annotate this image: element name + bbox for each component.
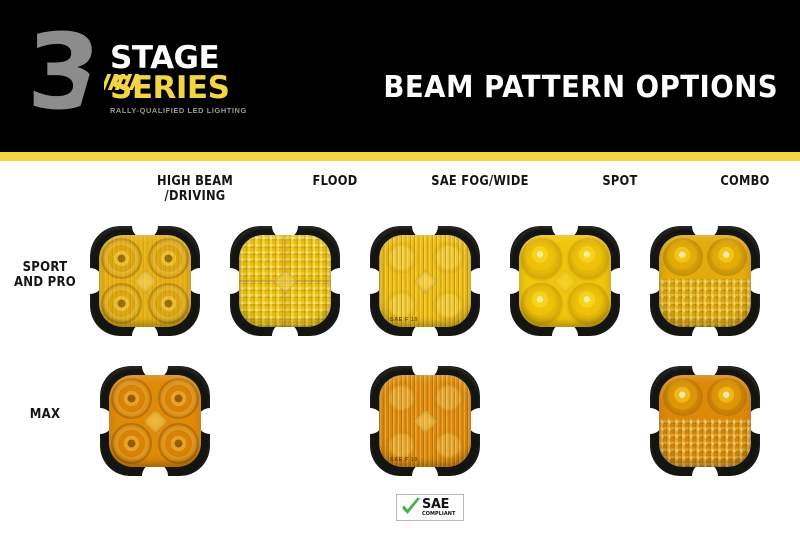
reflector-pod xyxy=(111,423,152,464)
logo-speed-stripes-icon xyxy=(104,74,144,90)
reflector-pod xyxy=(101,283,142,324)
sae-badge-text: SAE COMPLIANT xyxy=(422,498,457,518)
reflector-pod xyxy=(148,238,189,279)
spot-pod xyxy=(707,378,747,417)
lens-face xyxy=(659,375,751,467)
spot-pod xyxy=(707,238,747,277)
page-title: BEAM PATTERN OPTIONS xyxy=(383,70,778,105)
header-bar: 3 STAGE SERIES RALLY-QUALIFIED LED LIGHT… xyxy=(0,0,800,152)
row-label-line1: SPORT xyxy=(5,261,86,276)
lens-sport-high-beam-driving xyxy=(90,226,200,336)
lens-sport-flood xyxy=(230,226,340,336)
column-header-row: HIGH BEAM /DRIVING FLOOD SAE FOG/WIDE SP… xyxy=(90,175,800,219)
beam-pattern-options-chart: 3 STAGE SERIES RALLY-QUALIFIED LED LIGHT… xyxy=(0,0,800,533)
lens-assembly xyxy=(100,366,210,476)
combo-spot-half xyxy=(659,375,751,419)
sae-compliant-badge: SAE COMPLIANT xyxy=(396,494,464,521)
spot-pod xyxy=(568,238,609,279)
column-header-line1: SAE FOG/WIDE xyxy=(414,175,546,190)
lens-assembly: SAE F 19 xyxy=(370,366,480,476)
spot-pod xyxy=(663,378,703,417)
lens-sport-sae-fog-wide: SAE F 19 xyxy=(370,226,480,336)
lens-max-combo xyxy=(650,366,760,476)
column-header-line1: SPOT xyxy=(563,175,677,190)
column-header-sae-fog-wide: SAE FOG/WIDE xyxy=(414,175,546,190)
logo-word-stage: STAGE xyxy=(110,44,260,73)
lens-sport-spot xyxy=(510,226,620,336)
reflector-pod xyxy=(101,238,142,279)
row-label-line2: AND PRO xyxy=(5,276,86,291)
combo-spot-half xyxy=(659,235,751,279)
spot-pod xyxy=(521,238,562,279)
lens-assembly xyxy=(650,366,760,476)
combo-flood-half xyxy=(659,279,751,327)
lens-max-sae-fog-wide: SAE F 19 xyxy=(370,366,480,476)
column-header-line1: COMBO xyxy=(688,175,800,190)
lens-assembly xyxy=(230,226,340,336)
lens-face: SAE F 19 xyxy=(379,375,471,467)
lens-sae-marking: SAE F 19 xyxy=(390,457,418,463)
header-accent-stripe xyxy=(0,152,800,161)
lens-face xyxy=(239,235,331,327)
row-label-line1: MAX xyxy=(5,408,86,423)
column-header-line1: HIGH BEAM xyxy=(138,175,252,190)
lens-assembly xyxy=(510,226,620,336)
check-icon xyxy=(400,497,422,518)
lens-texture-waffle-dots xyxy=(659,279,751,327)
reflector-pod xyxy=(111,378,152,419)
sae-badge-subtitle: COMPLIANT xyxy=(422,512,455,517)
lens-assembly xyxy=(90,226,200,336)
column-header-high-beam-driving: HIGH BEAM /DRIVING xyxy=(138,175,252,204)
column-header-flood: FLOOD xyxy=(278,175,392,190)
row-label-sport-and-pro: SPORT AND PRO xyxy=(5,261,86,291)
combo-flood-half xyxy=(659,419,751,467)
reflector-pod xyxy=(158,423,199,464)
spot-pod xyxy=(663,238,703,277)
lens-assembly: SAE F 19 xyxy=(370,226,480,336)
lens-texture-waffle-dots xyxy=(659,419,751,467)
lens-face xyxy=(109,375,201,467)
lens-face xyxy=(99,235,191,327)
lens-assembly xyxy=(650,226,760,336)
lens-sae-marking: SAE F 19 xyxy=(390,317,418,323)
column-header-spot: SPOT xyxy=(563,175,677,190)
row-label-max: MAX xyxy=(5,408,86,423)
logo-wordmark: STAGE SERIES RALLY-QUALIFIED LED LIGHTIN… xyxy=(110,44,260,115)
column-header-line1: FLOOD xyxy=(278,175,392,190)
column-header-line2: /DRIVING xyxy=(138,190,252,205)
column-header-combo: COMBO xyxy=(688,175,800,190)
beam-pattern-grid: HIGH BEAM /DRIVING FLOOD SAE FOG/WIDE SP… xyxy=(0,161,800,533)
lens-face: SAE F 19 xyxy=(379,235,471,327)
sae-badge-title: SAE xyxy=(422,498,449,512)
lens-sport-combo xyxy=(650,226,760,336)
stage-series-logo: 3 STAGE SERIES RALLY-QUALIFIED LED LIGHT… xyxy=(28,26,258,126)
lens-face xyxy=(519,235,611,327)
spot-pod xyxy=(521,283,562,324)
reflector-pod xyxy=(158,378,199,419)
lens-face xyxy=(659,235,751,327)
spot-pod xyxy=(568,283,609,324)
lens-max-high-beam-driving xyxy=(100,366,210,476)
logo-tagline: RALLY-QUALIFIED LED LIGHTING xyxy=(110,106,260,115)
reflector-pod xyxy=(148,283,189,324)
